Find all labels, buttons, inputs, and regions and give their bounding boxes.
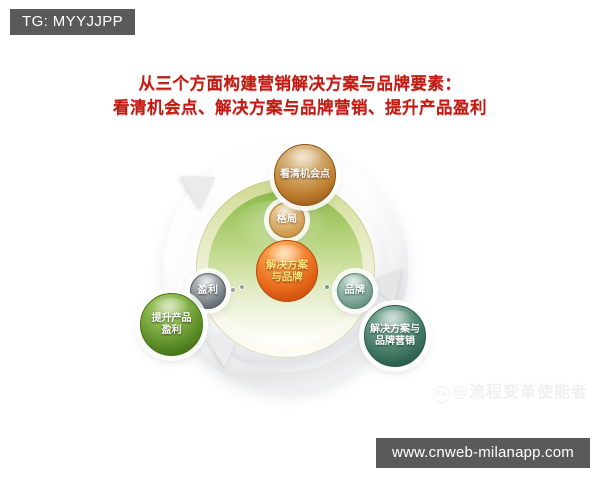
connector-dot <box>325 285 329 289</box>
outer-node-opportunity[interactable]: 看清机会点 <box>274 144 336 206</box>
satellite-node-geju-label: 格局 <box>277 214 298 226</box>
watermark-text: @流程变革使能者 <box>452 384 588 401</box>
title-line-2: 看清机会点、解决方案与品牌营销、提升产品盈利 <box>0 96 600 120</box>
outer-node-opportunity-label: 看清机会点 <box>280 169 330 181</box>
connector-dot <box>240 285 244 289</box>
center-node-solution-brand[interactable]: 解决方案 与品牌 <box>256 240 318 302</box>
marketing-framework-diagram: 格局 盈利 品牌 解决方案 与品牌 看清机会点 提升产品 盈利 解决方案与 品牌… <box>130 140 470 395</box>
outer-node-brand-marketing-label-line-2: 品牌营销 <box>370 336 420 348</box>
outer-node-brand-marketing[interactable]: 解决方案与 品牌营销 <box>364 305 426 367</box>
outer-node-profit-label-line-2: 盈利 <box>152 325 192 337</box>
website-url-badge: www.cnweb-milanapp.com <box>376 438 590 468</box>
satellite-node-pinpai[interactable]: 品牌 <box>337 273 373 309</box>
source-watermark: du@流程变革使能者 <box>433 378 588 403</box>
outer-node-profit[interactable]: 提升产品 盈利 <box>140 293 203 356</box>
center-node-label-line-1: 解决方案 <box>266 259 308 271</box>
center-node-label-line-2: 与品牌 <box>266 271 308 283</box>
satellite-node-geju[interactable]: 格局 <box>269 202 305 238</box>
page-title: 从三个方面构建营销解决方案与品牌要素： 看清机会点、解决方案与品牌营销、提升产品… <box>0 72 600 120</box>
outer-node-profit-label-line-1: 提升产品 <box>152 313 192 325</box>
outer-node-brand-marketing-label-line-1: 解决方案与 <box>370 324 420 336</box>
baidu-paw-icon: du <box>433 386 450 403</box>
satellite-node-pinpai-label: 品牌 <box>345 285 366 297</box>
connector-dot <box>231 288 235 292</box>
satellite-node-yingli-label: 盈利 <box>198 285 219 297</box>
title-line-1: 从三个方面构建营销解决方案与品牌要素： <box>0 72 600 96</box>
telegram-handle-badge: TG: MYYJJPP <box>10 9 135 35</box>
